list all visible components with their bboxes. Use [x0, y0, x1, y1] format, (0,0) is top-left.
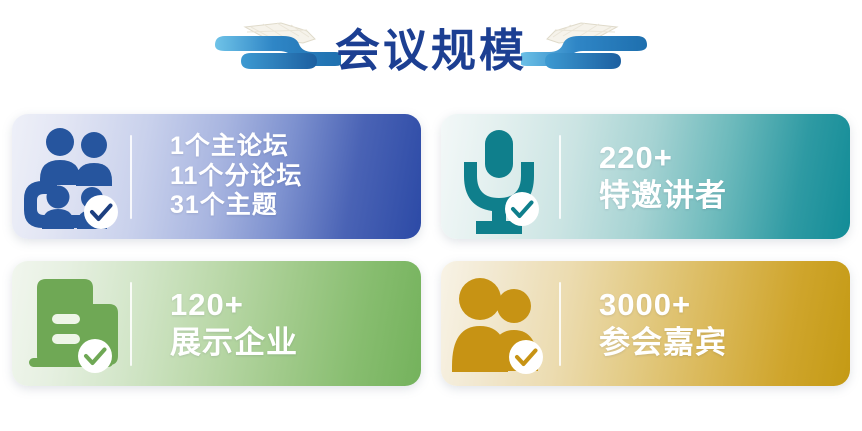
page-header: 会议规模 [0, 0, 862, 96]
stat-card-attendees[interactable]: 3000+ 参会嘉宾 [441, 261, 850, 386]
stat-line: 31个主题 [170, 191, 302, 221]
stat-card-text-attendees: 3000+ 参会嘉宾 [561, 286, 727, 362]
stat-card-forums[interactable]: 1个主论坛 11个分论坛 31个主题 [12, 114, 421, 239]
stat-line: 1个主论坛 [170, 132, 302, 162]
building-document-icon [12, 261, 130, 386]
header-inner: 会议规模 [211, 0, 651, 96]
stat-line: 展示企业 [170, 324, 298, 362]
page-title: 会议规模 [335, 28, 527, 73]
stat-card-exhibitors[interactable]: 120+ 展示企业 [12, 261, 421, 386]
cloud-motif-left-icon [211, 9, 341, 87]
check-circle-badge [509, 340, 543, 374]
stat-line: 3000+ [599, 286, 727, 324]
stat-card-text-speakers: 220+ 特邀讲者 [561, 139, 727, 215]
stat-line: 特邀讲者 [599, 177, 727, 215]
check-circle-badge [84, 195, 118, 229]
two-people-icon [441, 261, 559, 386]
audience-people-icon [12, 114, 130, 239]
stat-line: 11个分论坛 [170, 162, 302, 192]
check-circle-badge [505, 192, 539, 226]
stat-card-text-exhibitors: 120+ 展示企业 [132, 286, 298, 362]
stat-line: 220+ [599, 139, 727, 177]
stats-card-grid: 1个主论坛 11个分论坛 31个主题 220+ 特邀讲者 [12, 114, 850, 410]
stat-card-text-forums: 1个主论坛 11个分论坛 31个主题 [132, 132, 302, 221]
stat-line: 参会嘉宾 [599, 324, 727, 362]
stat-card-speakers[interactable]: 220+ 特邀讲者 [441, 114, 850, 239]
cloud-motif-right-icon [521, 9, 651, 87]
stat-line: 120+ [170, 286, 298, 324]
microphone-icon [441, 114, 559, 239]
check-circle-badge [78, 339, 112, 373]
